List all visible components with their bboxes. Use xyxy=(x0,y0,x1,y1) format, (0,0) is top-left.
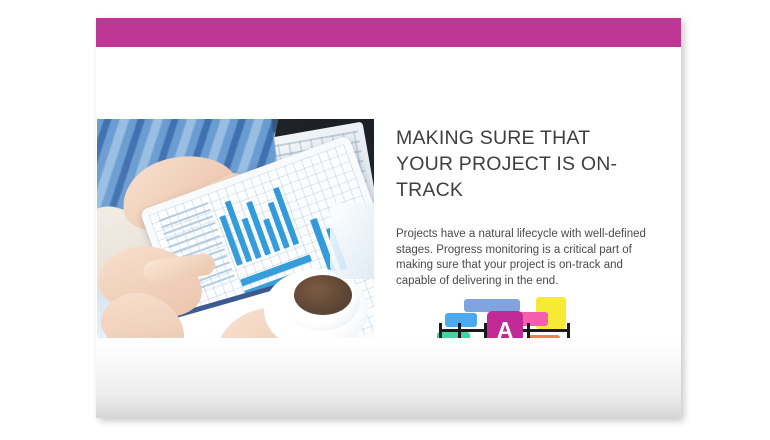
bar-blue-sky xyxy=(445,313,477,327)
slide-body-paragraph: Projects have a natural lifecycle with w… xyxy=(396,203,646,289)
presentation-slide-card[interactable]: MAKING SURE THAT YOUR PROJECT IS ON-TRAC… xyxy=(96,18,681,418)
axis-tick-3 xyxy=(484,323,487,338)
axis-tick-1 xyxy=(439,323,442,338)
axis-tick-4 xyxy=(527,323,530,338)
slide-content-area: MAKING SURE THAT YOUR PROJECT IS ON-TRAC… xyxy=(96,47,681,338)
photo-overlay xyxy=(97,119,374,367)
slide-title: MAKING SURE THAT YOUR PROJECT IS ON-TRAC… xyxy=(396,125,646,203)
slide-text-column: MAKING SURE THAT YOUR PROJECT IS ON-TRAC… xyxy=(396,125,646,289)
slide-footer-gradient xyxy=(96,338,681,418)
photo-scene xyxy=(97,119,374,367)
axis-tick-2 xyxy=(458,323,461,338)
axis-tick-5 xyxy=(567,323,570,338)
slide-header-bar xyxy=(96,18,681,47)
hands-tablet-charts-coffee-photo xyxy=(97,119,374,367)
